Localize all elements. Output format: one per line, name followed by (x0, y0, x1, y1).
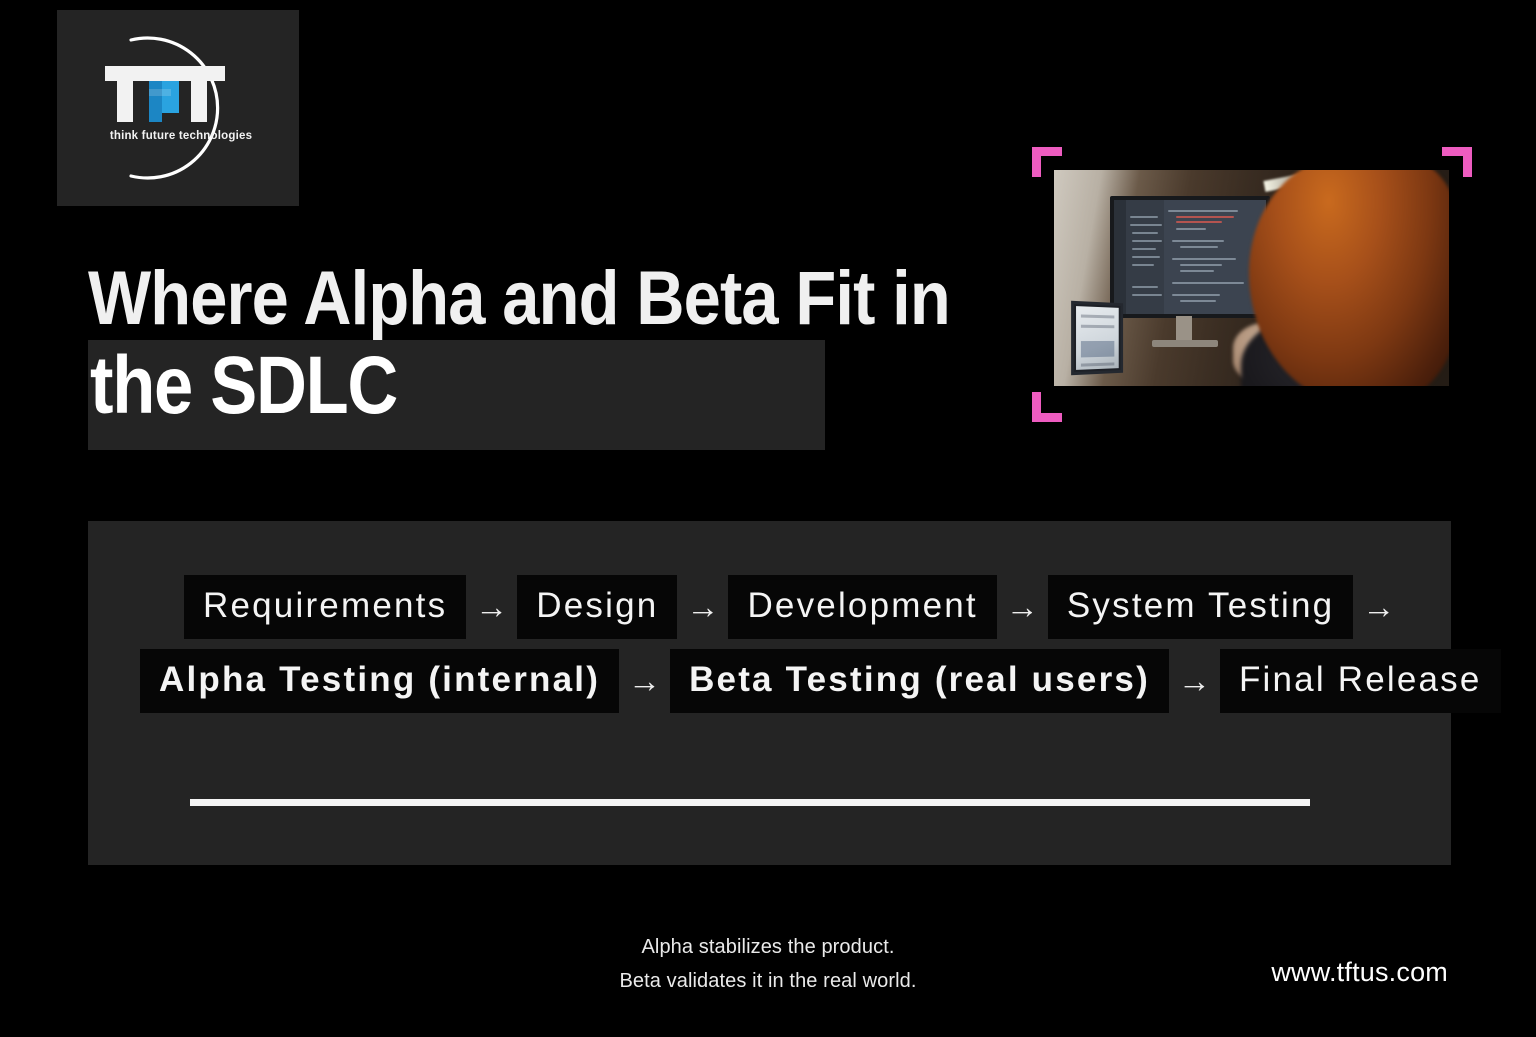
logo-tft-icon (105, 66, 225, 122)
photo-laptop (1071, 301, 1123, 376)
logo-tagline: think future technologies (91, 130, 271, 142)
flow-step-beta-testing: Beta Testing (real users) (670, 649, 1169, 713)
flow-step-system-testing: System Testing (1048, 575, 1353, 639)
flow-arrow-icon: → (997, 585, 1048, 629)
title-line-1: Where Alpha and Beta Fit in (88, 258, 950, 340)
logo-artwork: think future technologies (57, 10, 299, 206)
photo-laptop-screen (1076, 306, 1119, 370)
frame-bracket-bottom-left-icon (1032, 392, 1062, 422)
flow-arrow-icon: → (466, 585, 517, 629)
title-line-2: the SDLC (90, 334, 397, 438)
photo-editor-activitybar (1114, 200, 1126, 314)
photo-monitor-base (1152, 340, 1218, 347)
sdlc-flow-rows: Requirements → Design → Development → Sy… (88, 575, 1451, 713)
flow-arrow-trailing-icon: → (1353, 585, 1404, 629)
photo-monitor (1110, 196, 1270, 318)
flow-arrow-icon: → (619, 659, 670, 703)
flow-step-final-release: Final Release (1220, 649, 1501, 713)
photo-monitor-stand (1176, 316, 1192, 342)
brand-logo: think future technologies (57, 10, 299, 206)
page-title: Where Alpha and Beta Fit in the SDLC (88, 258, 1068, 340)
flow-arrow-icon: → (1169, 659, 1220, 703)
flow-arrow-icon: → (677, 585, 728, 629)
photo-person-hair (1249, 170, 1449, 386)
flow-step-requirements: Requirements (184, 575, 466, 639)
flow-step-alpha-testing: Alpha Testing (internal) (140, 649, 619, 713)
website-url[interactable]: www.tftus.com (1271, 955, 1448, 989)
sdlc-flow-panel: Requirements → Design → Development → Sy… (88, 521, 1451, 865)
hero-photo-frame (1032, 147, 1472, 422)
flow-step-development: Development (728, 575, 996, 639)
hero-photo (1054, 170, 1449, 386)
flow-step-design: Design (517, 575, 677, 639)
frame-bracket-top-left-icon (1032, 147, 1062, 177)
sdlc-flow-row-2: Alpha Testing (internal) → Beta Testing … (88, 649, 1451, 713)
sdlc-flow-row-1: Requirements → Design → Development → Sy… (88, 575, 1451, 639)
flow-divider-rule (190, 799, 1310, 806)
frame-bracket-top-right-icon (1442, 147, 1472, 177)
